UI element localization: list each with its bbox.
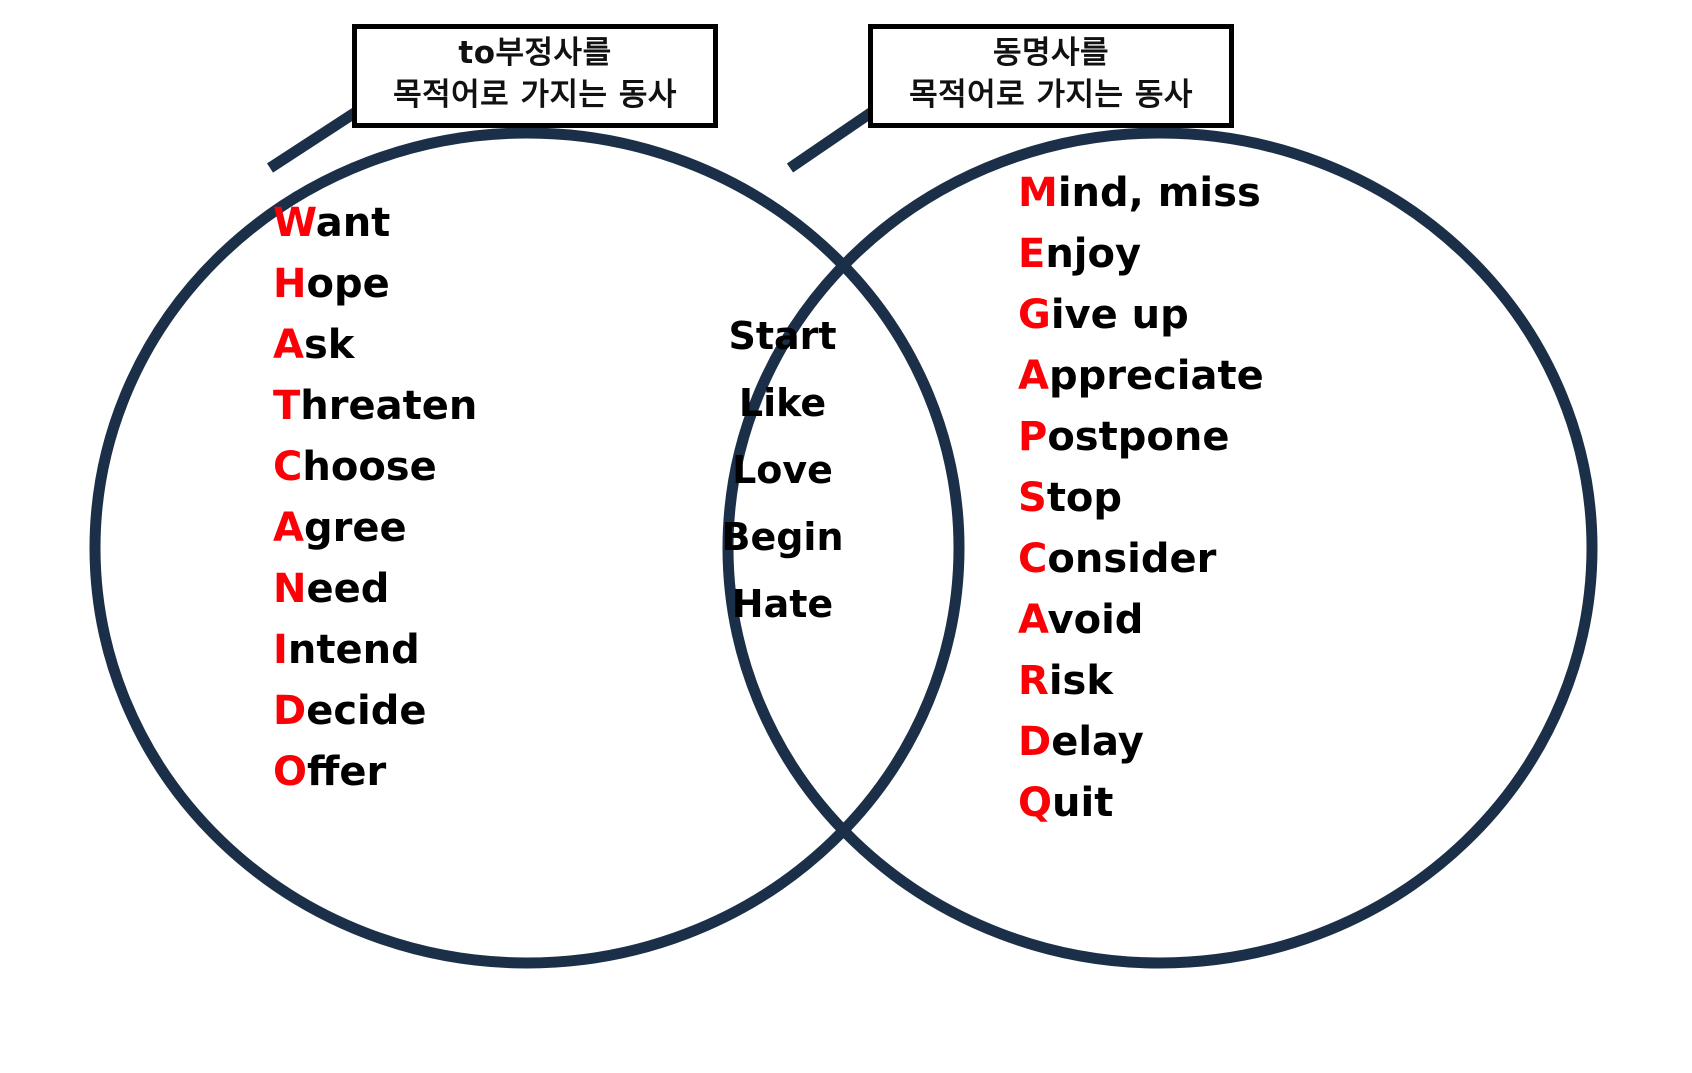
- verb-initial-letter: A: [1018, 597, 1048, 643]
- verb-rest-letters: gree: [304, 505, 407, 551]
- verb-initial-letter: M: [1018, 170, 1058, 216]
- verb-item: Appreciate: [1018, 346, 1264, 407]
- left-category-label-line1: to부정사를: [458, 32, 611, 74]
- verb-rest-letters: eed: [306, 566, 389, 612]
- verb-rest-letters: ind, miss: [1058, 170, 1261, 216]
- verb-rest-letters: ntend: [288, 627, 420, 673]
- verb-item: Delay: [1018, 712, 1264, 773]
- verb-item: Decide: [273, 681, 477, 742]
- verb-rest-letters: ppreciate: [1049, 353, 1264, 399]
- verb-item: Quit: [1018, 773, 1264, 834]
- verb-initial-letter: O: [273, 749, 307, 795]
- verb-rest-letters: elay: [1051, 719, 1144, 765]
- verb-rest-letters: uit: [1052, 780, 1113, 826]
- right-word-list: Mind, missEnjoyGive upAppreciatePostpone…: [1018, 163, 1264, 834]
- verb-item: Threaten: [273, 376, 477, 437]
- verb-rest-letters: top: [1047, 475, 1122, 521]
- verb-rest-letters: ecide: [306, 688, 426, 734]
- right-category-label-line1: 동명사를: [993, 32, 1109, 74]
- verb-item: Stop: [1018, 468, 1264, 529]
- verb-rest-letters: ive up: [1051, 292, 1189, 338]
- verb-item: Offer: [273, 742, 477, 803]
- right-label-connector: [790, 112, 872, 168]
- center-word-list: StartLikeLoveBeginHate: [690, 303, 875, 638]
- verb-initial-letter: C: [273, 444, 302, 490]
- verb-rest-letters: sk: [304, 322, 354, 368]
- verb-rest-letters: njoy: [1045, 231, 1141, 277]
- verb-rest-letters: ant: [316, 200, 391, 246]
- verb-item: Need: [273, 559, 477, 620]
- verb-initial-letter: E: [1018, 231, 1045, 277]
- verb-rest-letters: Begin: [721, 515, 843, 559]
- verb-item: Love: [690, 437, 875, 504]
- verb-initial-letter: S: [1018, 475, 1047, 521]
- left-category-label: to부정사를 목적어로 가지는 동사: [352, 24, 718, 128]
- verb-item: Mind, miss: [1018, 163, 1264, 224]
- verb-rest-letters: ffer: [307, 749, 386, 795]
- right-category-label-line2: 목적어로 가지는 동사: [909, 74, 1193, 116]
- verb-item: Enjoy: [1018, 224, 1264, 285]
- verb-rest-letters: onsider: [1047, 536, 1216, 582]
- verb-rest-letters: void: [1048, 597, 1144, 643]
- verb-initial-letter: C: [1018, 536, 1047, 582]
- verb-initial-letter: D: [1018, 719, 1051, 765]
- verb-item: Like: [690, 370, 875, 437]
- verb-item: Risk: [1018, 651, 1264, 712]
- verb-rest-letters: Love: [732, 448, 833, 492]
- verb-initial-letter: R: [1018, 658, 1049, 704]
- verb-rest-letters: ostpone: [1047, 414, 1229, 460]
- verb-item: Agree: [273, 498, 477, 559]
- verb-item: Hate: [690, 571, 875, 638]
- verb-item: Start: [690, 303, 875, 370]
- verb-initial-letter: W: [273, 200, 316, 246]
- left-label-connector: [270, 112, 356, 168]
- verb-initial-letter: D: [273, 688, 306, 734]
- verb-item: Avoid: [1018, 590, 1264, 651]
- verb-rest-letters: Like: [739, 381, 826, 425]
- verb-rest-letters: ope: [306, 261, 389, 307]
- verb-item: Choose: [273, 437, 477, 498]
- verb-rest-letters: Hate: [732, 582, 833, 626]
- verb-item: Postpone: [1018, 407, 1264, 468]
- verb-item: Ask: [273, 315, 477, 376]
- venn-diagram-canvas: to부정사를 목적어로 가지는 동사 동명사를 목적어로 가지는 동사 Want…: [0, 0, 1692, 1073]
- verb-initial-letter: I: [273, 627, 288, 673]
- verb-item: Hope: [273, 254, 477, 315]
- verb-initial-letter: A: [1018, 353, 1049, 399]
- verb-item: Intend: [273, 620, 477, 681]
- verb-initial-letter: N: [273, 566, 306, 612]
- verb-item: Consider: [1018, 529, 1264, 590]
- verb-initial-letter: Q: [1018, 780, 1052, 826]
- verb-initial-letter: T: [273, 383, 300, 429]
- verb-rest-letters: hreaten: [300, 383, 477, 429]
- right-category-label: 동명사를 목적어로 가지는 동사: [868, 24, 1234, 128]
- verb-item: Want: [273, 193, 477, 254]
- verb-initial-letter: A: [273, 322, 304, 368]
- left-word-list: WantHopeAskThreatenChooseAgreeNeedIntend…: [273, 193, 477, 803]
- verb-item: Give up: [1018, 285, 1264, 346]
- verb-item: Begin: [690, 504, 875, 571]
- verb-initial-letter: H: [273, 261, 306, 307]
- verb-rest-letters: Start: [728, 314, 836, 358]
- left-category-label-line2: 목적어로 가지는 동사: [393, 74, 677, 116]
- verb-initial-letter: A: [273, 505, 304, 551]
- verb-initial-letter: P: [1018, 414, 1047, 460]
- verb-rest-letters: isk: [1049, 658, 1113, 704]
- verb-rest-letters: hoose: [302, 444, 436, 490]
- verb-initial-letter: G: [1018, 292, 1051, 338]
